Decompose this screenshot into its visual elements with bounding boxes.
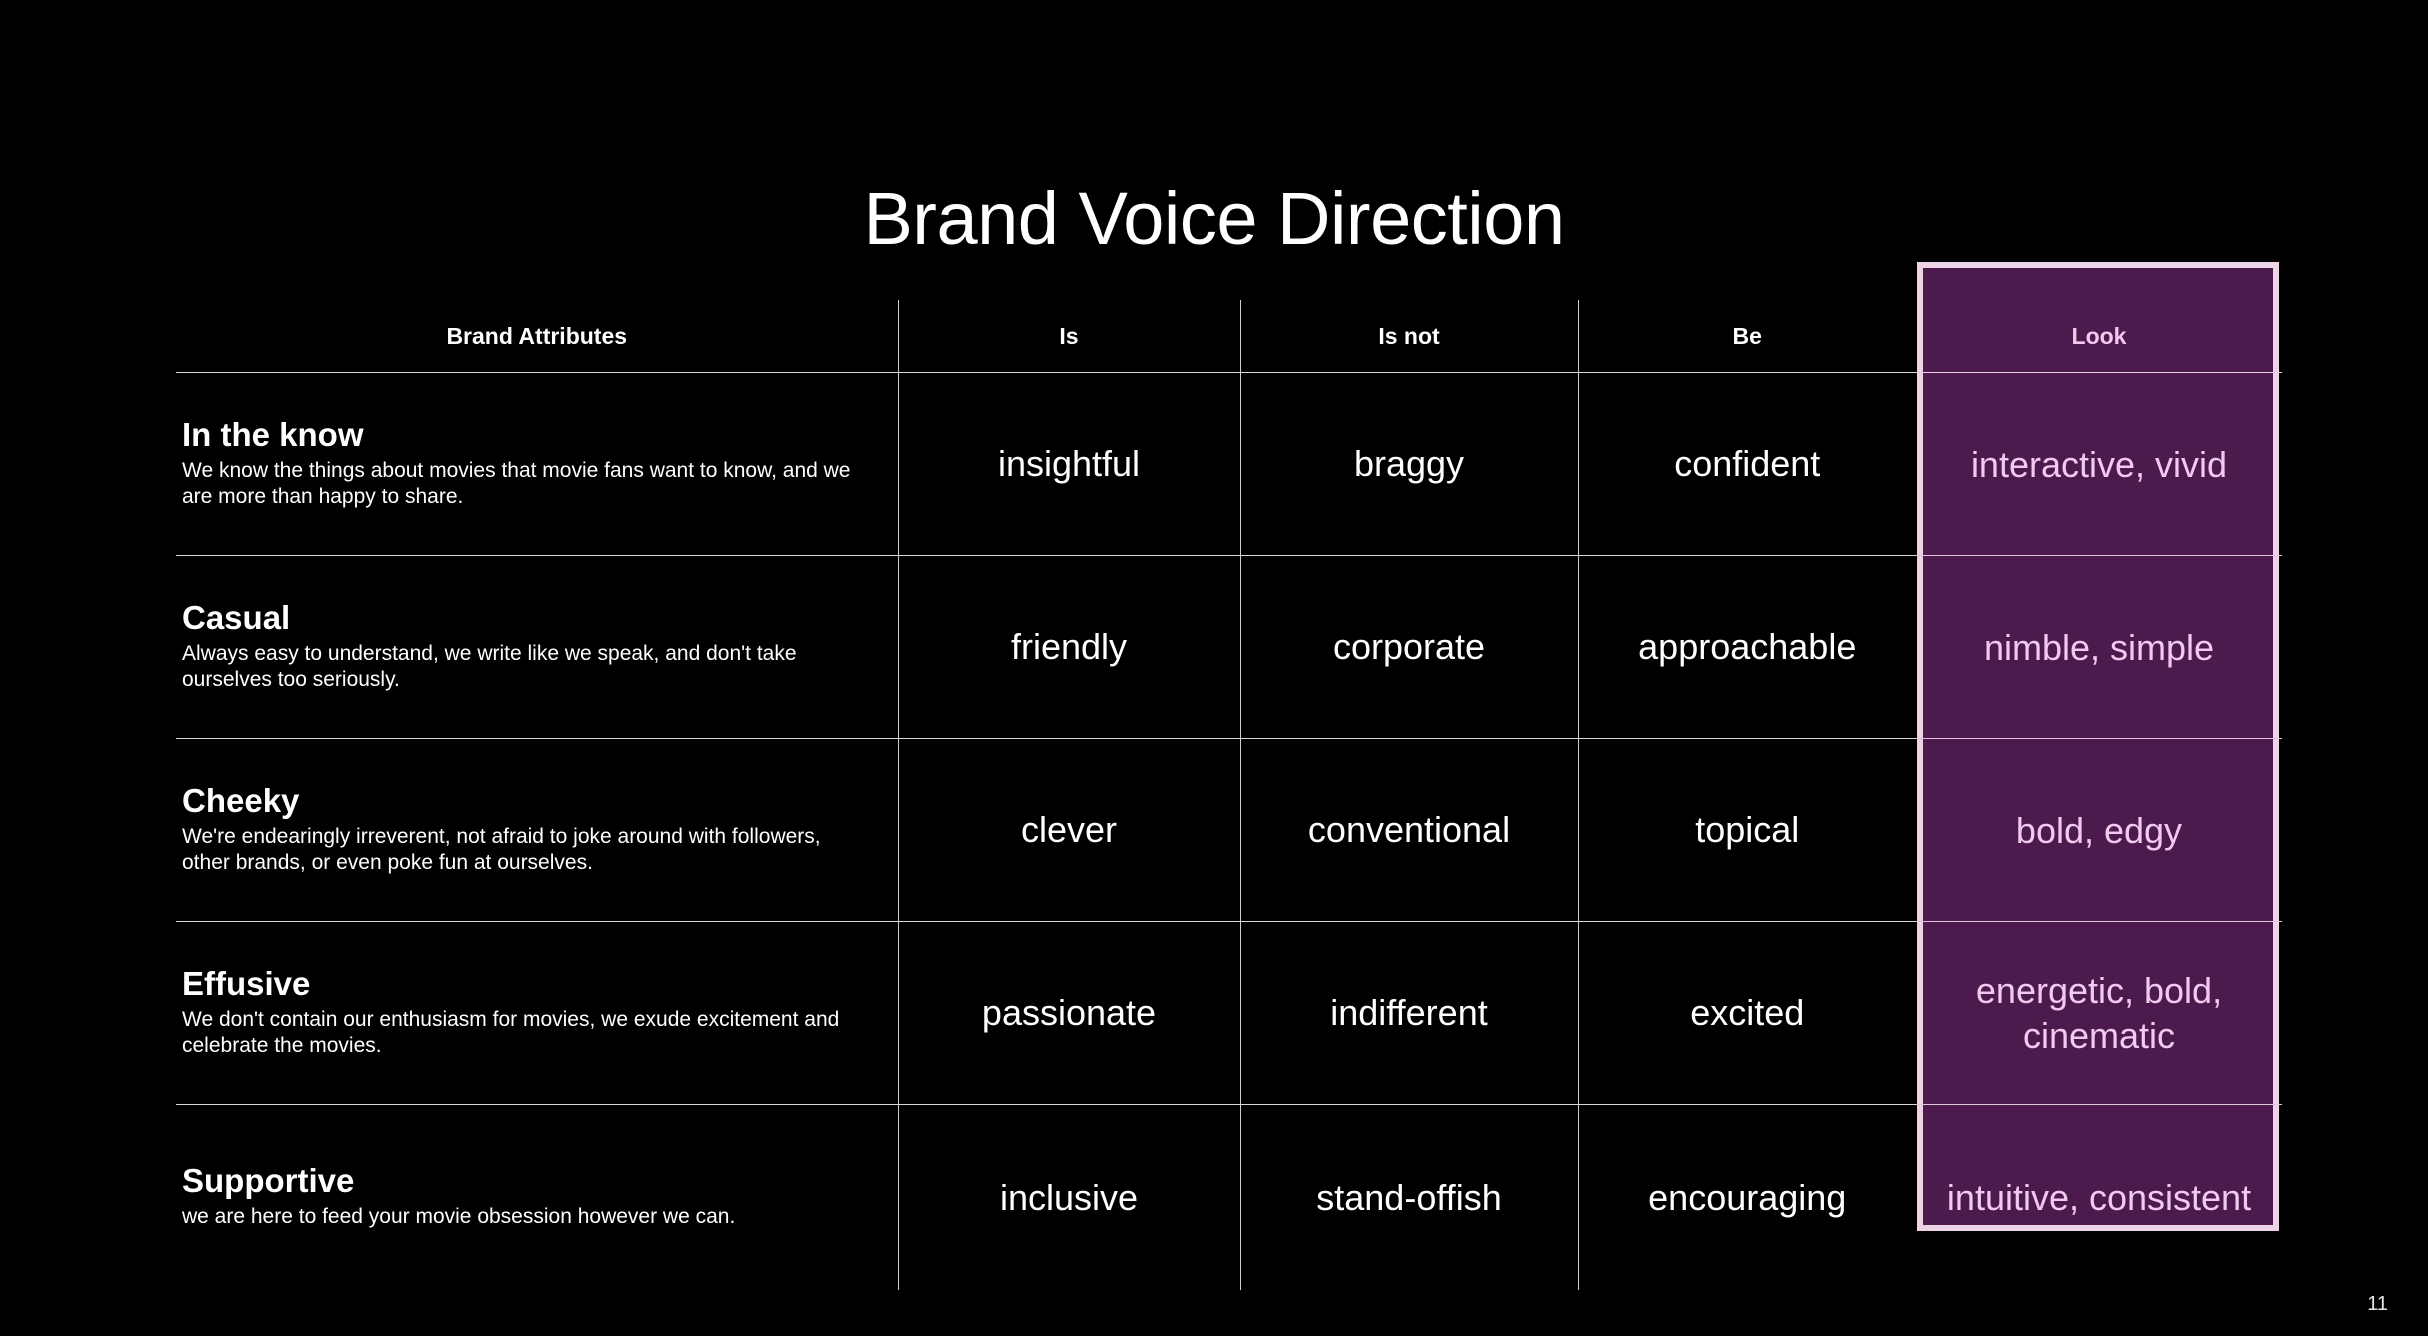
attribute-description: We're endearingly irreverent, not afraid… (182, 824, 874, 877)
attribute-name: Effusive (182, 965, 874, 1003)
table-body: In the know We know the things about mov… (176, 373, 2282, 1291)
attribute-name: In the know (182, 416, 874, 454)
table-header-row: Brand Attributes Is Is not Be Look (176, 300, 2282, 373)
is-cell: clever (898, 739, 1240, 922)
is-not-cell: braggy (1240, 373, 1578, 556)
brand-voice-table-container: Brand Attributes Is Is not Be Look In th… (176, 300, 2282, 1290)
page-number: 11 (2367, 1293, 2388, 1316)
attribute-cell: Supportive we are here to feed your movi… (176, 1105, 898, 1291)
table-row: Supportive we are here to feed your movi… (176, 1105, 2282, 1291)
column-header-is-not: Is not (1240, 300, 1578, 373)
look-cell: intuitive, consistent (1916, 1105, 2282, 1291)
is-cell: insightful (898, 373, 1240, 556)
is-cell: friendly (898, 556, 1240, 739)
column-header-is: Is (898, 300, 1240, 373)
is-not-cell: stand-offish (1240, 1105, 1578, 1291)
be-cell: topical (1578, 739, 1916, 922)
slide-canvas: Brand Voice Direction Brand Attributes I… (0, 0, 2428, 1336)
table-row: Effusive We don't contain our enthusiasm… (176, 922, 2282, 1105)
table-row: In the know We know the things about mov… (176, 373, 2282, 556)
look-cell: bold, edgy (1916, 739, 2282, 922)
attribute-cell: Effusive We don't contain our enthusiasm… (176, 922, 898, 1105)
column-header-brand-attributes: Brand Attributes (176, 300, 898, 373)
attribute-name: Cheeky (182, 782, 874, 820)
table-row: Cheeky We're endearingly irreverent, not… (176, 739, 2282, 922)
page-title: Brand Voice Direction (0, 182, 2428, 256)
attribute-description: We know the things about movies that mov… (182, 458, 874, 511)
look-cell: nimble, simple (1916, 556, 2282, 739)
attribute-name: Supportive (182, 1162, 874, 1200)
column-header-look: Look (1916, 300, 2282, 373)
table-header: Brand Attributes Is Is not Be Look (176, 300, 2282, 373)
attribute-cell: In the know We know the things about mov… (176, 373, 898, 556)
attribute-cell: Casual Always easy to understand, we wri… (176, 556, 898, 739)
look-cell: energetic, bold, cinematic (1916, 922, 2282, 1105)
brand-voice-table: Brand Attributes Is Is not Be Look In th… (176, 300, 2282, 1290)
look-cell: interactive, vivid (1916, 373, 2282, 556)
is-not-cell: corporate (1240, 556, 1578, 739)
be-cell: excited (1578, 922, 1916, 1105)
is-cell: inclusive (898, 1105, 1240, 1291)
attribute-description: we are here to feed your movie obsession… (182, 1204, 874, 1230)
is-not-cell: indifferent (1240, 922, 1578, 1105)
attribute-description: We don't contain our enthusiasm for movi… (182, 1007, 874, 1060)
be-cell: approachable (1578, 556, 1916, 739)
attribute-description: Always easy to understand, we write like… (182, 641, 874, 694)
is-not-cell: conventional (1240, 739, 1578, 922)
is-cell: passionate (898, 922, 1240, 1105)
table-row: Casual Always easy to understand, we wri… (176, 556, 2282, 739)
column-header-be: Be (1578, 300, 1916, 373)
attribute-cell: Cheeky We're endearingly irreverent, not… (176, 739, 898, 922)
be-cell: confident (1578, 373, 1916, 556)
be-cell: encouraging (1578, 1105, 1916, 1291)
attribute-name: Casual (182, 599, 874, 637)
